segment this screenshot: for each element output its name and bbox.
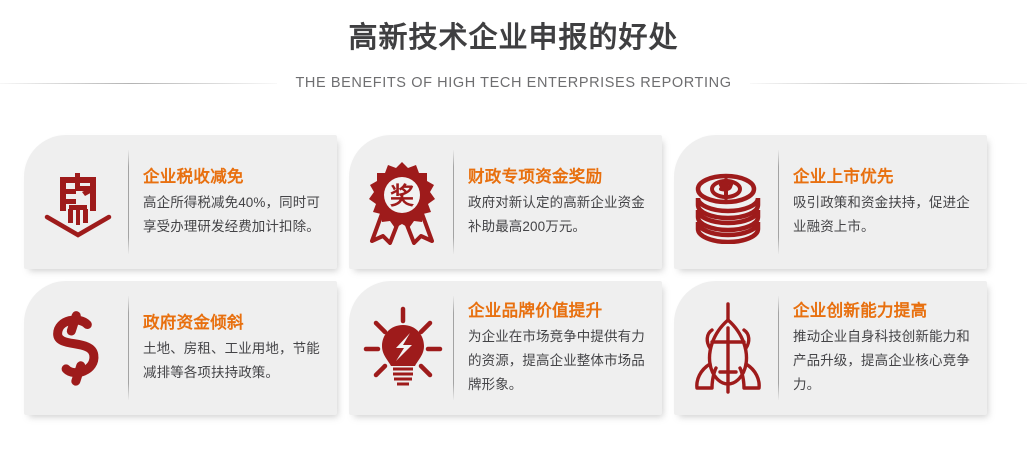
card-text: 政府对新认定的高新企业资金补助最高200万元。 bbox=[468, 191, 648, 239]
card-heading: 企业上市优先 bbox=[793, 166, 973, 188]
tax-arrow-down-icon bbox=[28, 152, 128, 252]
dollar-sign-icon bbox=[28, 298, 128, 398]
card-text: 吸引政策和资金扶持，促进企业融资上市。 bbox=[793, 191, 973, 239]
card-divider bbox=[778, 150, 779, 254]
card-heading: 企业税收减免 bbox=[143, 166, 323, 188]
card-heading: 企业创新能力提高 bbox=[793, 300, 973, 322]
benefit-card[interactable]: 政府资金倾斜 土地、房租、工业用地，节能减排等各项扶持政策。 bbox=[24, 281, 337, 415]
rocket-icon bbox=[678, 298, 778, 398]
award-ribbon-icon: 奖 bbox=[353, 152, 453, 252]
benefit-card[interactable]: 企业品牌价值提升 为企业在市场竞争中提供有力的资源，提高企业整体市场品牌形象。 bbox=[349, 281, 662, 415]
card-body: 企业税收减免 高企所得税减免40%，同时可享受办理研发经费加计扣除。 bbox=[143, 166, 327, 239]
card-body: 政府资金倾斜 土地、房租、工业用地，节能减排等各项扶持政策。 bbox=[143, 312, 327, 385]
card-text: 土地、房租、工业用地，节能减排等各项扶持政策。 bbox=[143, 337, 323, 385]
card-text: 为企业在市场竞争中提供有力的资源，提高企业整体市场品牌形象。 bbox=[468, 325, 648, 397]
page-title: 高新技术企业申报的好处 bbox=[0, 18, 1027, 58]
card-body: 财政专项资金奖励 政府对新认定的高新企业资金补助最高200万元。 bbox=[468, 166, 652, 239]
card-heading: 企业品牌价值提升 bbox=[468, 300, 648, 322]
benefit-card[interactable]: 企业创新能力提高 推动企业自身科技创新能力和产品升级，提高企业核心竞争力。 bbox=[674, 281, 987, 415]
card-heading: 财政专项资金奖励 bbox=[468, 166, 648, 188]
card-divider bbox=[453, 296, 454, 400]
coin-stack-icon bbox=[678, 152, 778, 252]
card-body: 企业品牌价值提升 为企业在市场竞争中提供有力的资源，提高企业整体市场品牌形象。 bbox=[468, 300, 652, 397]
card-divider bbox=[128, 150, 129, 254]
benefit-card-grid: 企业税收减免 高企所得税减免40%，同时可享受办理研发经费加计扣除。 奖 财政专… bbox=[0, 135, 1027, 415]
card-divider bbox=[128, 296, 129, 400]
card-divider bbox=[778, 296, 779, 400]
page-header: 高新技术企业申报的好处 THE BENEFITS OF HIGH TECH EN… bbox=[0, 0, 1027, 92]
benefit-card[interactable]: 企业税收减免 高企所得税减免40%，同时可享受办理研发经费加计扣除。 bbox=[24, 135, 337, 269]
card-body: 企业创新能力提高 推动企业自身科技创新能力和产品升级，提高企业核心竞争力。 bbox=[793, 300, 977, 397]
svg-text:奖: 奖 bbox=[390, 182, 415, 210]
subtitle-rule-left bbox=[0, 83, 277, 84]
card-text: 推动企业自身科技创新能力和产品升级，提高企业核心竞争力。 bbox=[793, 325, 973, 397]
subtitle-row: THE BENEFITS OF HIGH TECH ENTERPRISES RE… bbox=[0, 74, 1027, 92]
benefit-card[interactable]: 企业上市优先 吸引政策和资金扶持，促进企业融资上市。 bbox=[674, 135, 987, 269]
lightbulb-idea-icon bbox=[353, 298, 453, 398]
page-subtitle: THE BENEFITS OF HIGH TECH ENTERPRISES RE… bbox=[277, 74, 749, 92]
benefit-card[interactable]: 奖 财政专项资金奖励 政府对新认定的高新企业资金补助最高200万元。 bbox=[349, 135, 662, 269]
card-body: 企业上市优先 吸引政策和资金扶持，促进企业融资上市。 bbox=[793, 166, 977, 239]
card-heading: 政府资金倾斜 bbox=[143, 312, 323, 334]
card-divider bbox=[453, 150, 454, 254]
card-text: 高企所得税减免40%，同时可享受办理研发经费加计扣除。 bbox=[143, 191, 323, 239]
subtitle-rule-right bbox=[750, 83, 1027, 84]
